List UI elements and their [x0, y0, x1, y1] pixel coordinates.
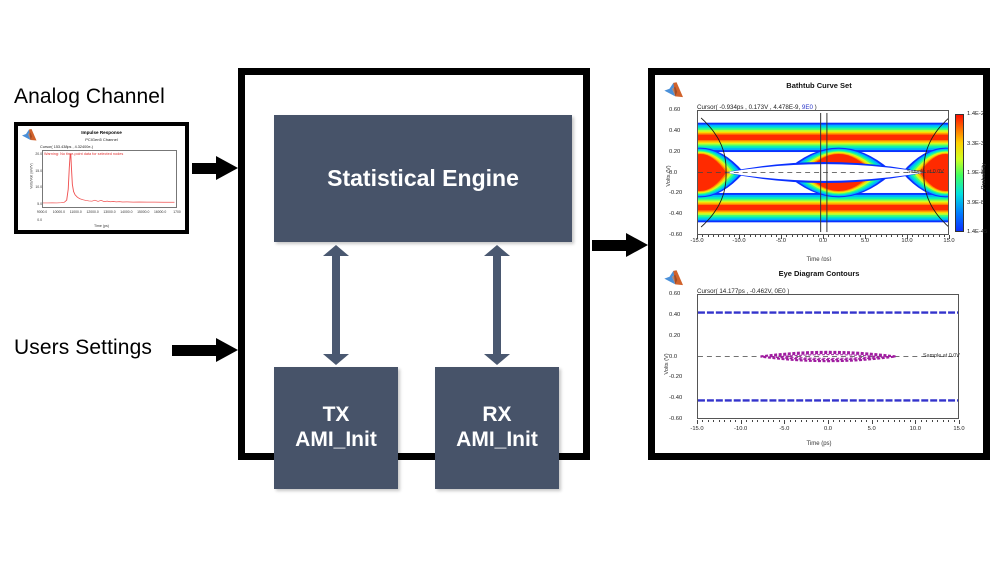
bathtub-x-tickmark	[771, 235, 772, 237]
bathtub-x-tickmark	[718, 235, 719, 237]
eye-x-tickmark	[724, 420, 725, 422]
bathtub-x-tickmark	[949, 235, 950, 239]
impulse-x-axis-ticks: 9000.010000.011000.012000.013000.014000.…	[42, 210, 177, 218]
impulse-chart-subtitle: PCIGen5 Channel	[18, 137, 185, 142]
eye-x-tickmark	[872, 420, 873, 424]
rx-line2: AMI_Init	[456, 428, 538, 451]
eye-y-tick: 0.40	[669, 312, 680, 318]
bathtub-x-tickmark	[865, 235, 866, 239]
eye-x-tickmark	[943, 420, 944, 422]
bathtub-y-tick: -0.20	[669, 190, 682, 196]
eye-x-tick: 15.0	[953, 426, 964, 432]
eye-x-tick: 0.0	[824, 426, 832, 432]
bathtub-x-tickmark	[786, 235, 787, 237]
eye-x-tickmark	[806, 420, 807, 422]
eye-x-tickmark	[735, 420, 736, 422]
eye-x-tick: -10.0	[734, 426, 747, 432]
bathtub-x-tickmark	[839, 235, 840, 237]
eye-x-tickmark	[817, 420, 818, 422]
eye-y-tick: 0.0	[669, 354, 677, 360]
eye-x-tick: 10.0	[910, 426, 921, 432]
eye-x-tickmark	[790, 420, 791, 422]
impulse-x-tick: 13000.0	[103, 210, 115, 214]
eye-x-tickmark	[752, 420, 753, 422]
impulse-x-tick: 15000.0	[137, 210, 149, 214]
bathtub-x-tickmark	[923, 235, 924, 237]
bathtub-colorbar-tick: 1.4E-45	[967, 229, 987, 235]
bathtub-x-tickmark	[713, 235, 714, 237]
impulse-y-tick: 10.0	[35, 185, 42, 189]
impulse-x-tick: 9000.0	[37, 210, 47, 214]
eye-x-tickmark	[779, 420, 780, 422]
bathtub-chart-title: Bathtub Curve Set	[655, 81, 983, 90]
bathtub-x-tickmark	[860, 235, 861, 237]
bathtub-x-tickmark	[755, 235, 756, 237]
eye-x-tickmark	[921, 420, 922, 422]
bathtub-x-tickmark	[750, 235, 751, 237]
bathtub-x-tickmark	[802, 235, 803, 237]
block-tx-ami-init[interactable]: TX AMI_Init	[274, 367, 398, 489]
bathtub-x-tickmark	[897, 235, 898, 237]
impulse-x-tick: 11000.0	[70, 210, 82, 214]
eye-x-tickmark	[730, 420, 731, 422]
impulse-x-axis-label: Time (ps)	[18, 224, 185, 228]
eye-y-tick: 0.60	[669, 291, 680, 297]
bathtub-x-tickmark	[797, 235, 798, 237]
eye-chart-title: Eye Diagram Contours	[655, 269, 983, 278]
impulse-x-tick: 16000.0	[154, 210, 166, 214]
connector-tx-to-engine	[323, 245, 349, 365]
eye-x-tickmark	[784, 420, 785, 424]
bathtub-x-tickmark	[933, 235, 934, 237]
bathtub-colorbar-tick: 1.4E-2	[967, 111, 984, 117]
bathtub-x-tickmark	[702, 235, 703, 237]
eye-x-tickmark	[708, 420, 709, 422]
bathtub-x-tickmark	[834, 235, 835, 237]
eye-x-tickmark	[801, 420, 802, 422]
bathtub-x-tickmark	[792, 235, 793, 237]
impulse-series	[43, 151, 176, 207]
block-rx-ami-init[interactable]: RX AMI_Init	[435, 367, 559, 489]
eye-x-tickmark	[948, 420, 949, 422]
bathtub-x-tickmark	[939, 235, 940, 237]
impulse-x-tick: 14000.0	[120, 210, 132, 214]
eye-x-tickmark	[888, 420, 889, 422]
bathtub-x-tickmark	[776, 235, 777, 237]
bathtub-x-tickmark	[928, 235, 929, 237]
impulse-y-tick: 20.0	[35, 152, 42, 156]
bathtub-x-tickmark	[739, 235, 740, 239]
bathtub-y-tick: 0.20	[669, 149, 680, 155]
eye-x-tickmark	[850, 420, 851, 422]
bathtub-colorbar	[955, 114, 964, 232]
bathtub-sample-annotation: Sample at 0.0V	[907, 169, 944, 175]
eye-x-tickmark	[746, 420, 747, 422]
eye-x-tickmark	[763, 420, 764, 422]
bathtub-x-tickmark	[734, 235, 735, 237]
eye-x-tickmark	[904, 420, 905, 422]
eye-x-tickmark	[719, 420, 720, 422]
eye-x-tickmark	[954, 420, 955, 422]
eye-x-tickmark	[910, 420, 911, 422]
diagram-canvas: Analog Channel Users Settings Impulse Re…	[0, 0, 1000, 562]
impulse-cursor-readout: Cursor( 153.438ps , 4.32400e-)	[40, 145, 93, 149]
statistical-engine-panel: Statistical Engine TX AMI_Init RX AMI_In…	[238, 68, 590, 460]
eye-x-tickmark	[812, 420, 813, 422]
bathtub-x-tickmark	[765, 235, 766, 237]
bathtub-x-tickmark	[813, 235, 814, 237]
eye-y-tick: 0.20	[669, 333, 680, 339]
eye-plot-area	[697, 294, 959, 419]
bathtub-x-tickmark	[844, 235, 845, 237]
impulse-warning-text: Warning: No time-point data for selected…	[44, 152, 123, 156]
eye-x-tickmark	[866, 420, 867, 422]
bathtub-x-tickmark	[744, 235, 745, 237]
impulse-y-axis-label: Volts/Volt (mV/V)	[30, 163, 34, 188]
bathtub-x-tickmark	[855, 235, 856, 237]
block-tx-label: TX AMI_Init	[295, 403, 377, 453]
eye-x-axis-label: Time (ps)	[655, 441, 983, 447]
eye-x-tickmark	[757, 420, 758, 422]
bathtub-y-tick: 0.0	[669, 170, 677, 176]
eye-x-tickmark	[915, 420, 916, 424]
users-settings-label: Users Settings	[14, 336, 152, 360]
bathtub-x-tickmark	[697, 235, 698, 239]
eye-x-tickmark	[959, 420, 960, 424]
bathtub-x-tickmark	[891, 235, 892, 237]
analog-channel-label: Analog Channel	[14, 85, 165, 109]
impulse-response-plot: Impulse Response PCIGen5 Channel Cursor(…	[18, 126, 185, 230]
impulse-response-card: Impulse Response PCIGen5 Channel Cursor(…	[14, 122, 189, 234]
block-rx-label: RX AMI_Init	[456, 403, 538, 453]
impulse-chart-title: Impulse Response	[18, 130, 185, 136]
eye-x-tickmark	[702, 420, 703, 422]
eye-x-tickmark	[883, 420, 884, 422]
eye-x-tick: 5.0	[868, 426, 876, 432]
eye-x-tickmark	[823, 420, 824, 422]
impulse-x-tick: 10000.0	[53, 210, 65, 214]
bathtub-y-tick: 0.60	[669, 107, 680, 113]
bathtub-colorbar-tick: 3.9E-8	[967, 200, 984, 206]
eye-x-tickmark	[773, 420, 774, 422]
bathtub-x-tickmark	[828, 235, 829, 237]
impulse-y-axis-ticks: 20.015.010.05.00.0	[26, 150, 42, 208]
bathtub-colorbar-tick: 3.3E-3	[967, 141, 984, 147]
eye-x-tickmark	[855, 420, 856, 422]
bathtub-x-tickmark	[723, 235, 724, 237]
eye-sample-annotation: Sample at 0.0V	[923, 353, 960, 359]
eye-x-tickmark	[839, 420, 840, 422]
bathtub-x-tickmark	[944, 235, 945, 237]
impulse-y-tick: 0.0	[37, 218, 42, 222]
bathtub-y-tick: -0.40	[669, 211, 682, 217]
eye-x-tickmark	[926, 420, 927, 422]
eye-x-tickmark	[828, 420, 829, 424]
eye-x-tickmark	[795, 420, 796, 422]
eye-x-tickmark	[877, 420, 878, 422]
bathtub-x-tickmark	[876, 235, 877, 237]
bathtub-y-tick: -0.60	[669, 232, 682, 238]
block-statistical-engine-label: Statistical Engine	[327, 165, 519, 192]
eye-x-tickmark	[741, 420, 742, 424]
results-panel: Bathtub Curve Set Cursor( -0.934ps , 0.1…	[648, 68, 990, 460]
connector-rx-to-engine	[484, 245, 510, 365]
eye-y-tick: -0.20	[669, 374, 682, 380]
impulse-plot-area: Warning: No time-point data for selected…	[42, 150, 177, 208]
eye-x-tickmark	[937, 420, 938, 422]
eye-x-tickmark	[932, 420, 933, 422]
eye-x-tickmark	[713, 420, 714, 422]
bathtub-colorbar-label: Probability	[981, 153, 987, 199]
eye-x-tickmark	[768, 420, 769, 422]
bathtub-x-tickmark	[760, 235, 761, 237]
bathtub-x-tickmark	[708, 235, 709, 237]
impulse-y-tick: 15.0	[35, 169, 42, 173]
eye-x-tickmark	[861, 420, 862, 422]
impulse-x-tick: 12000.0	[86, 210, 98, 214]
bathtub-x-tickmark	[823, 235, 824, 239]
eye-chart-card: Eye Diagram Contours Cursor( 14.177ps , …	[655, 261, 983, 453]
bathtub-x-tickmark	[918, 235, 919, 237]
rx-line1: RX	[482, 403, 511, 426]
eye-x-tickmark	[899, 420, 900, 422]
tx-line2: AMI_Init	[295, 428, 377, 451]
bathtub-y-tick: 0.40	[669, 128, 680, 134]
eye-x-tickmark	[833, 420, 834, 422]
bathtub-x-tickmark	[729, 235, 730, 237]
impulse-x-tick: 1700	[173, 210, 181, 214]
bathtub-x-tickmark	[902, 235, 903, 237]
block-statistical-engine[interactable]: Statistical Engine	[274, 115, 572, 242]
bathtub-x-tickmark	[907, 235, 908, 239]
bathtub-x-tickmark	[886, 235, 887, 237]
eye-y-tick: -0.60	[669, 416, 682, 422]
eye-x-tick: -15.0	[690, 426, 703, 432]
eye-x-tick: -5.0	[779, 426, 789, 432]
eye-y-tick: -0.40	[669, 395, 682, 401]
eye-x-tickmark	[894, 420, 895, 422]
bathtub-x-tickmark	[881, 235, 882, 237]
bathtub-x-tickmark	[781, 235, 782, 239]
tx-line1: TX	[323, 403, 350, 426]
bathtub-x-tickmark	[849, 235, 850, 237]
bathtub-x-tickmark	[912, 235, 913, 237]
bathtub-chart-card: Bathtub Curve Set Cursor( -0.934ps , 0.1…	[655, 77, 983, 259]
bathtub-x-tickmark	[818, 235, 819, 237]
eye-x-tickmark	[697, 420, 698, 424]
bathtub-x-tickmark	[807, 235, 808, 237]
eye-x-tickmark	[844, 420, 845, 422]
bathtub-x-tickmark	[870, 235, 871, 237]
